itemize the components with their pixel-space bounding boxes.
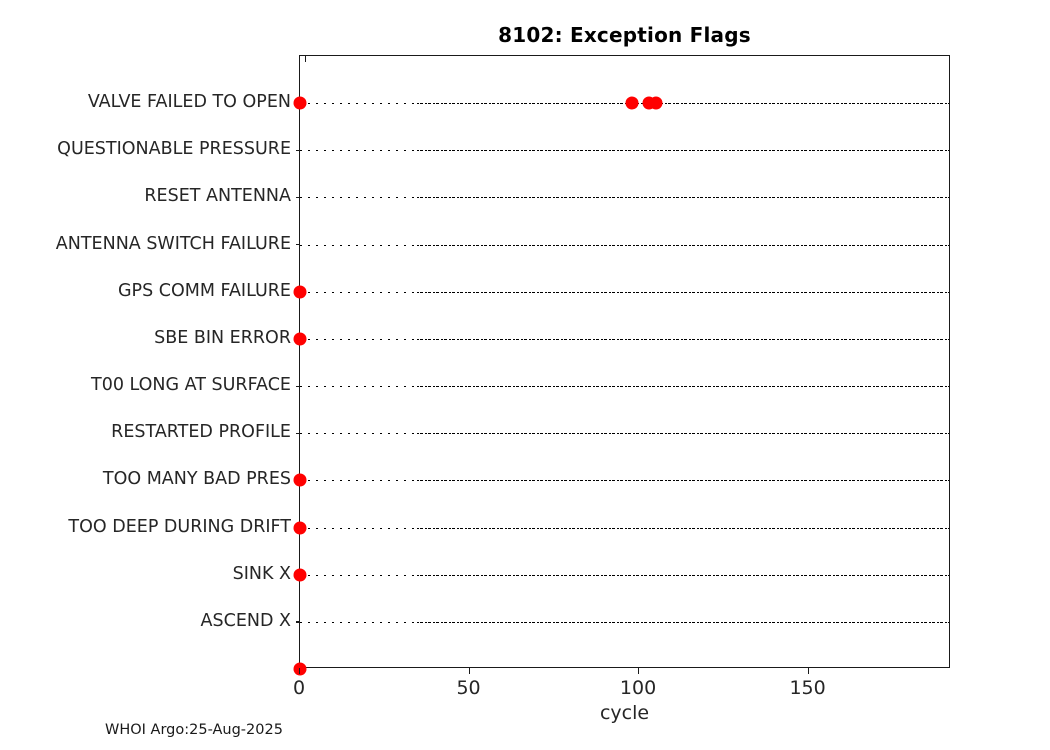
gridline	[300, 150, 949, 151]
y-axis-label-ascend-x: ASCEND X	[0, 611, 291, 631]
data-point	[294, 521, 307, 534]
data-point	[650, 97, 663, 110]
data-point	[294, 568, 307, 581]
x-axis-tick-label: 0	[293, 677, 305, 699]
y-axis-label-questionable-pressure: QUESTIONABLE PRESSURE	[0, 139, 291, 159]
gridline	[300, 622, 949, 623]
data-point	[294, 285, 307, 298]
data-point	[626, 97, 639, 110]
gridline-dense-segment	[417, 480, 949, 481]
gridline	[300, 245, 949, 246]
gridline	[300, 197, 949, 198]
y-axis-label-antenna-switch-failure: ANTENNA SWITCH FAILURE	[0, 234, 291, 254]
gridline-dense-segment	[417, 339, 949, 340]
y-axis-tick	[296, 197, 300, 198]
y-axis-label-valve-failed-to-open: VALVE FAILED TO OPEN	[0, 92, 291, 112]
plot-area	[299, 55, 950, 668]
data-point	[294, 332, 307, 345]
exception-flags-figure: 8102: Exception Flags 050100150 cycle WH…	[0, 0, 1050, 750]
y-axis-label-t00-long-at-surface: T00 LONG AT SURFACE	[0, 375, 291, 395]
gridline-dense-segment	[417, 575, 949, 576]
x-axis-tick	[299, 668, 300, 674]
gridline	[300, 339, 949, 340]
x-axis-tick-label: 50	[456, 677, 480, 699]
gridline	[300, 386, 949, 387]
y-axis-tick	[296, 150, 300, 151]
y-axis-tick	[296, 433, 300, 434]
gridline-dense-segment	[417, 150, 949, 151]
gridline	[300, 433, 949, 434]
y-axis-label-too-many-bad-pres: TOO MANY BAD PRES	[0, 469, 291, 489]
gridline	[300, 575, 949, 576]
top-axis-tick	[305, 56, 306, 62]
footer-note: WHOI Argo:25-Aug-2025	[105, 722, 283, 738]
y-axis-tick	[296, 386, 300, 387]
gridline	[300, 528, 949, 529]
gridline-dense-segment	[417, 197, 949, 198]
y-axis-tick	[296, 621, 300, 622]
x-axis-tick	[638, 668, 639, 674]
y-axis-label-reset-antenna: RESET ANTENNA	[0, 186, 291, 206]
y-axis-tick	[296, 244, 300, 245]
gridline	[300, 480, 949, 481]
gridline	[300, 103, 949, 104]
x-axis-tick	[808, 668, 809, 674]
x-axis-label: cycle	[299, 702, 950, 724]
data-point	[294, 97, 307, 110]
y-axis-label-sink-x: SINK X	[0, 564, 291, 584]
gridline	[300, 292, 949, 293]
x-axis-tick-label: 150	[789, 677, 825, 699]
y-axis-label-restarted-profile: RESTARTED PROFILE	[0, 422, 291, 442]
gridline-dense-segment	[417, 622, 949, 623]
y-axis-label-sbe-bin-error: SBE BIN ERROR	[0, 328, 291, 348]
gridline-dense-segment	[417, 433, 949, 434]
y-axis-label-too-deep-during-drift: TOO DEEP DURING DRIFT	[0, 517, 291, 537]
x-axis-tick	[469, 668, 470, 674]
x-axis-tick-label: 100	[620, 677, 656, 699]
gridline-dense-segment	[417, 103, 949, 104]
gridline-dense-segment	[417, 292, 949, 293]
data-point	[294, 474, 307, 487]
gridline-dense-segment	[417, 245, 949, 246]
y-axis-label-gps-comm-failure: GPS COMM FAILURE	[0, 281, 291, 301]
gridline-dense-segment	[417, 386, 949, 387]
chart-title: 8102: Exception Flags	[299, 23, 950, 47]
gridline-dense-segment	[417, 528, 949, 529]
